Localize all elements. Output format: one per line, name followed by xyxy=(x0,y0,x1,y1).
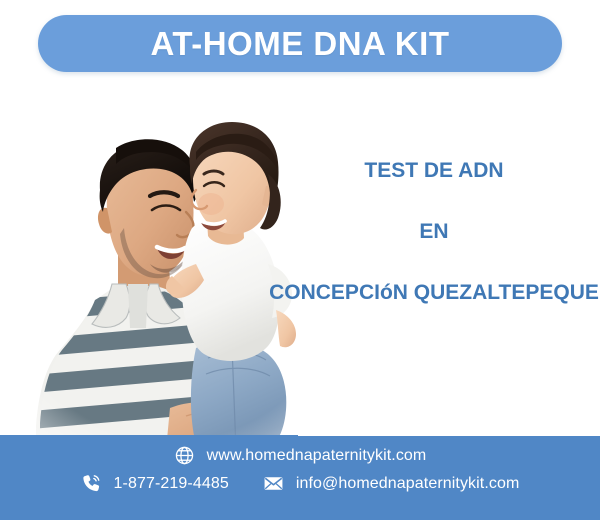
envelope-icon xyxy=(263,473,284,494)
footer-notch xyxy=(298,421,600,436)
footer-website-row: www.homednapaternitykit.com xyxy=(0,445,600,466)
header-banner: AT-HOME DNA KIT xyxy=(38,15,562,72)
globe-icon xyxy=(174,445,195,466)
email-contact[interactable]: info@homednapaternitykit.com xyxy=(263,473,520,494)
footer-contact-row: 1-877-219-4485 info@homednapaternitykit.… xyxy=(0,473,600,494)
promo-card: AT-HOME DNA KIT xyxy=(0,0,600,520)
website-contact[interactable]: www.homednapaternitykit.com xyxy=(174,445,427,466)
headline-block: TEST DE ADN EN CONCEPCIóN QUEZALTEPEQUE xyxy=(238,160,600,303)
headline-line-en: EN xyxy=(238,221,600,242)
website-text: www.homednapaternitykit.com xyxy=(207,448,427,464)
headline-line-location: CONCEPCIóN QUEZALTEPEQUE xyxy=(238,282,600,303)
phone-contact[interactable]: 1-877-219-4485 xyxy=(81,473,229,494)
email-text: info@homednapaternitykit.com xyxy=(296,476,520,492)
footer-bar: www.homednapaternitykit.com 1-877-219-44… xyxy=(0,435,600,520)
phone-text: 1-877-219-4485 xyxy=(114,476,229,492)
header-title: AT-HOME DNA KIT xyxy=(151,27,450,60)
headline-line-test-de-adn: TEST DE ADN xyxy=(238,160,600,181)
phone-icon xyxy=(81,473,102,494)
